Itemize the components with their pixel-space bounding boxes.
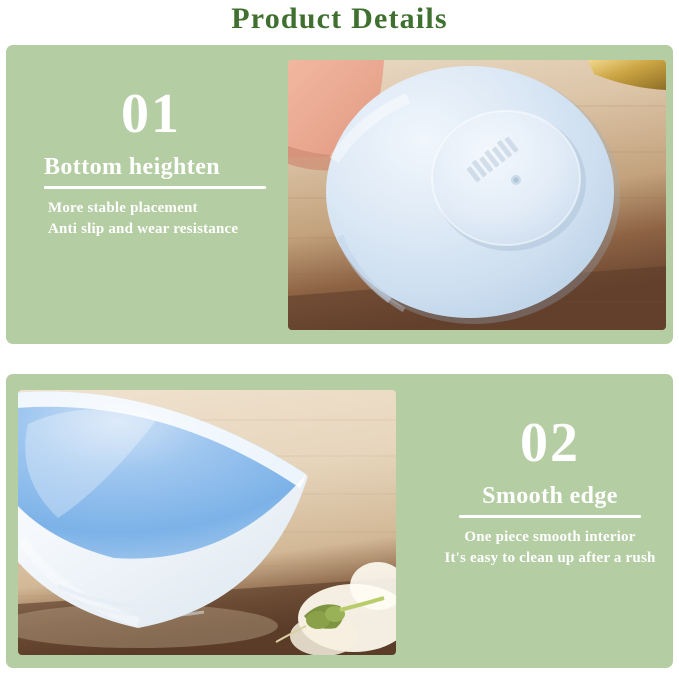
panel-01-text-block: 01 Bottom heighten More stable placement…: [38, 85, 288, 240]
panel-02-desc-line-2: It's easy to clean up after a rush: [434, 548, 666, 569]
panel-01-desc-line-1: More stable placement: [38, 198, 288, 219]
panel-02-number: 02: [434, 414, 666, 473]
panel-02-text-block: 02 Smooth edge One piece smooth interior…: [434, 414, 666, 569]
bowl-interior-photo: [18, 390, 396, 655]
panel-02-heading: Smooth edge: [434, 483, 666, 510]
page-title: Product Details: [0, 2, 679, 36]
panel-01-desc-line-2: Anti slip and wear resistance: [38, 219, 288, 240]
product-detail-panel-01: 01 Bottom heighten More stable placement…: [6, 45, 673, 344]
panel-01-heading: Bottom heighten: [38, 154, 288, 181]
panel-02-desc-line-1: One piece smooth interior: [434, 527, 666, 548]
panel-01-number: 01: [38, 85, 288, 144]
panel-01-underline: [44, 186, 266, 189]
panel-02-underline: [459, 515, 641, 518]
product-detail-panel-02: 02 Smooth edge One piece smooth interior…: [6, 374, 673, 668]
bowl-bottom-photo: [288, 60, 666, 330]
